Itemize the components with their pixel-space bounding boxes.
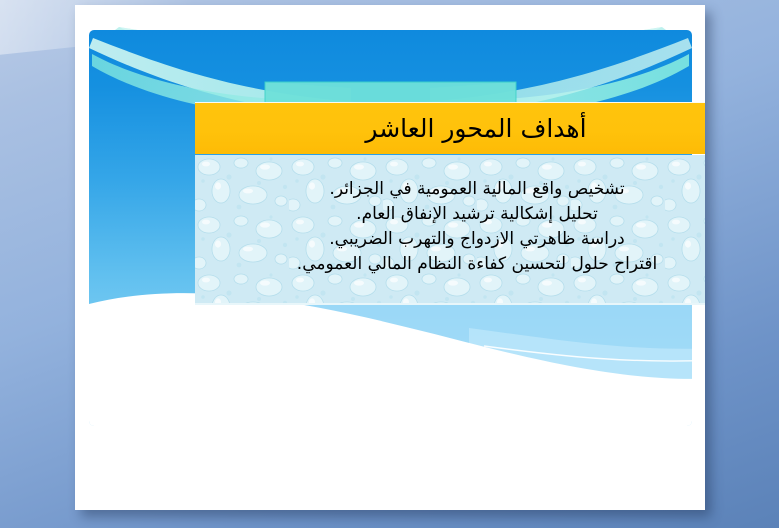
wave-thin-line-b xyxy=(484,346,692,361)
slide-page[interactable]: أهداف المحور العاشر xyxy=(75,5,705,510)
body-line-2: تحليل إشكالية ترشيد الإنفاق العام. xyxy=(195,202,705,227)
body-line-1: تشخيص واقع المالية العمومية في الجزائر. xyxy=(195,177,705,202)
slide-body-box[interactable]: تشخيص واقع المالية العمومية في الجزائر. … xyxy=(195,155,705,305)
wave-white-main xyxy=(89,293,692,426)
slide-title: أهداف المحور العاشر xyxy=(365,116,586,141)
body-line-3: دراسة ظاهرتي الازدواج والتهرب الضريبي. xyxy=(195,227,705,252)
body-line-4: اقتراح حلول لتحسين كفاءة النظام المالي ا… xyxy=(195,252,705,277)
slide-title-bar[interactable]: أهداف المحور العاشر xyxy=(195,102,705,154)
wave-pale-band-2 xyxy=(469,328,692,381)
slide-viewer-backdrop: أهداف المحور العاشر xyxy=(0,0,779,528)
slide-body-text: تشخيص واقع المالية العمومية في الجزائر. … xyxy=(195,177,705,281)
